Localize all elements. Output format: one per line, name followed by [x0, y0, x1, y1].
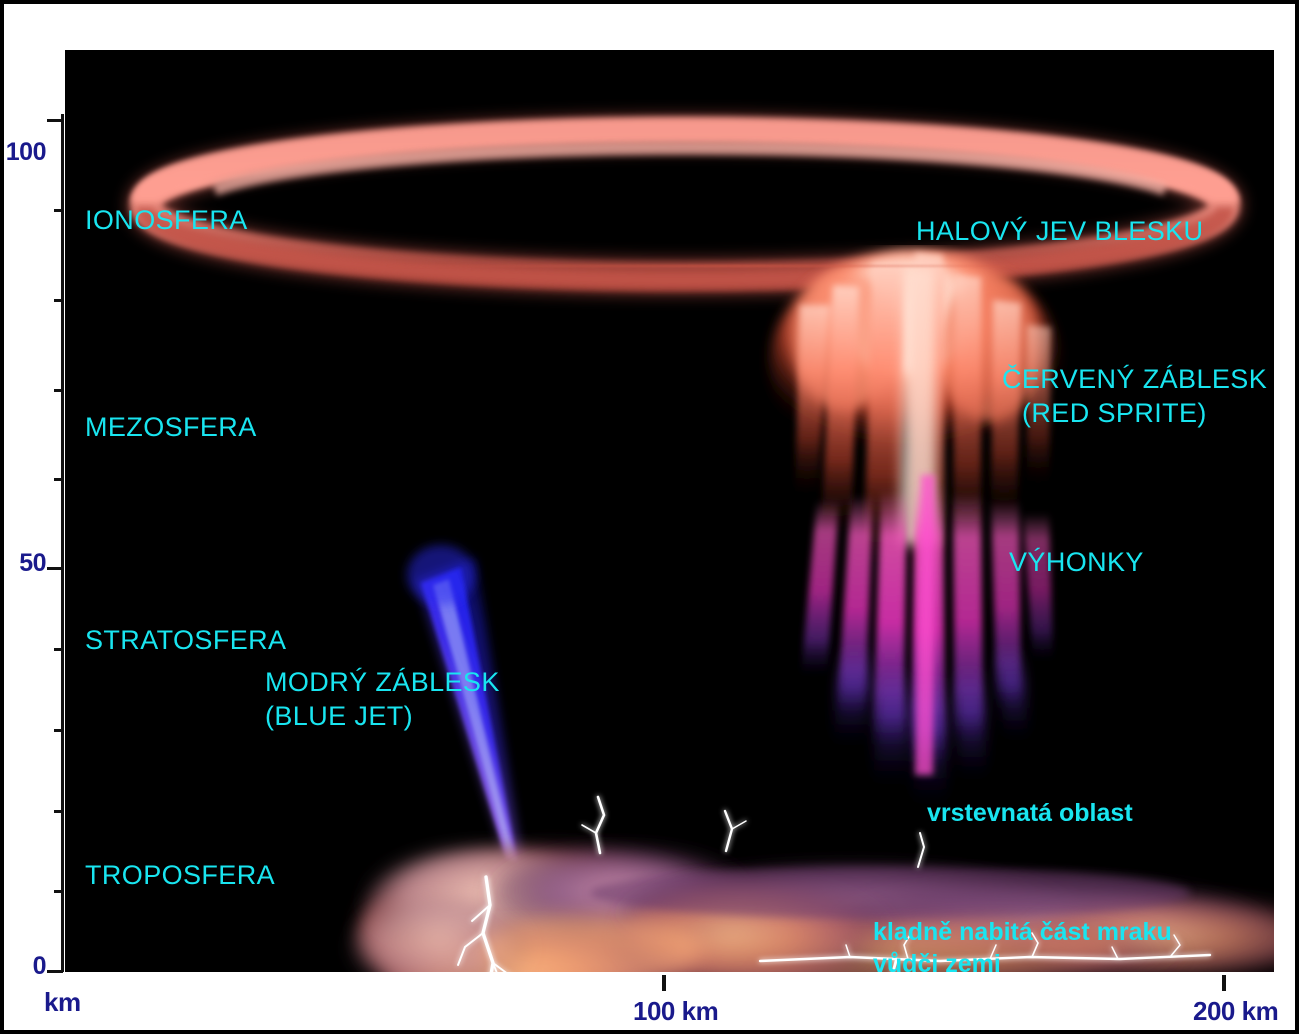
atmospheric-phenomena-figure: 100 50 0 km 100 km 200 km — [0, 0, 1299, 1034]
y-tick-label-50: 50 — [0, 549, 46, 578]
annotation-red-sprite-en: (RED SPRITE) — [1022, 398, 1207, 428]
y-tick-100 — [47, 119, 63, 122]
y-axis-unit-label: km — [44, 987, 81, 1018]
annotation-tendrils: VÝHONKY — [1009, 547, 1144, 577]
layer-label-stratosfera: STRATOSFERA — [85, 625, 286, 655]
y-tick-10 — [54, 890, 63, 893]
y-tick-60 — [54, 478, 63, 481]
x-tick-200 — [1222, 975, 1226, 991]
annotation-red-sprite: ČERVENÝ ZÁBLESK — [1002, 364, 1267, 394]
y-tick-30 — [54, 729, 63, 732]
annotation-positive: kladně nabitá část mraku — [873, 918, 1172, 946]
layer-label-troposfera: TROPOSFERA — [85, 860, 275, 890]
layer-label-ionosfera: IONOSFERA — [85, 205, 248, 235]
y-tick-50 — [47, 567, 63, 570]
halo-sprite-connector — [385, 265, 1085, 267]
annotation-blue-jet: MODRÝ ZÁBLESK — [265, 667, 500, 697]
layer-label-mezosfera: MEZOSFERA — [85, 412, 257, 442]
x-tick-label-100: 100 km — [633, 996, 718, 1027]
y-tick-20 — [54, 810, 63, 813]
y-tick-0 — [47, 970, 63, 973]
annotation-stratiform: vrstevnatá oblast — [927, 799, 1133, 827]
x-tick-label-200: 200 km — [1193, 996, 1278, 1027]
sky-plot-area: IONOSFERA MEZOSFERA STRATOSFERA TROPOSFE… — [65, 50, 1274, 972]
annotation-blue-jet-en: (BLUE JET) — [265, 701, 413, 731]
y-tick-label-0: 0 — [0, 952, 46, 981]
x-tick-100 — [662, 975, 666, 991]
annotation-leader: vůdči zemi — [873, 950, 1001, 972]
red-sprite-graphic — [755, 245, 1075, 805]
y-axis-line — [61, 114, 64, 972]
y-tick-label-100: 100 — [0, 138, 46, 167]
y-tick-70 — [54, 389, 63, 392]
y-tick-90 — [54, 209, 63, 212]
y-tick-80 — [54, 299, 63, 302]
annotation-halo: HALOVÝ JEV BLESKU — [916, 216, 1203, 246]
y-tick-40 — [54, 648, 63, 651]
